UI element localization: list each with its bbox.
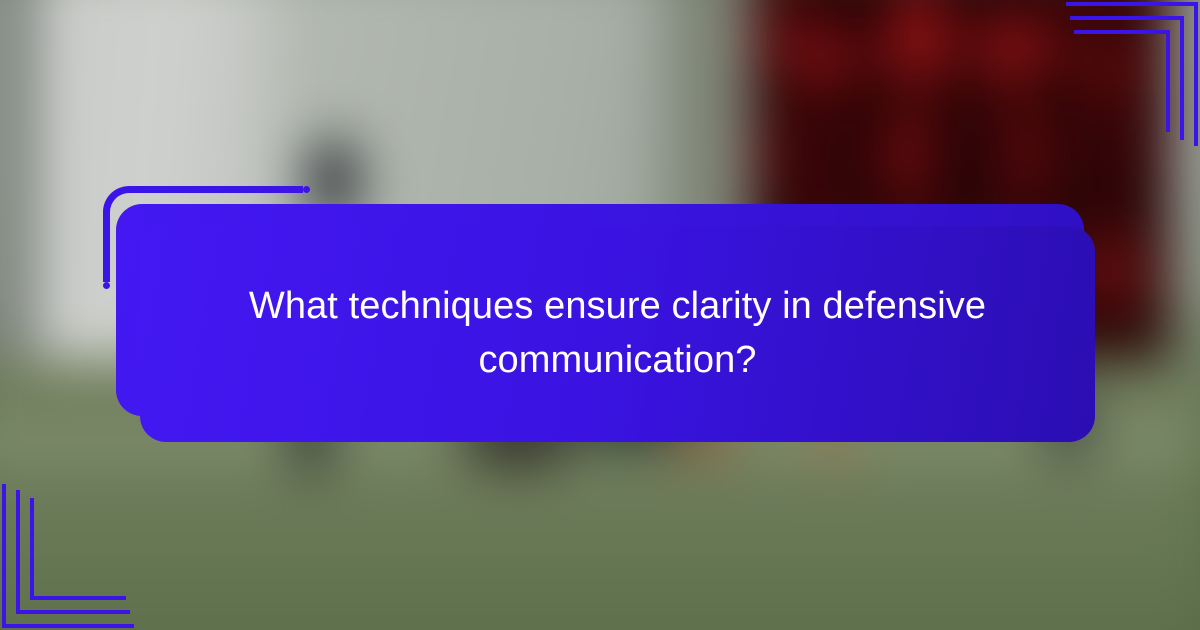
background-crate-cell [800, 0, 890, 40]
background-crate-cell [1075, 0, 1160, 56]
background-crate-cell [945, 0, 1055, 22]
background-crate-cell [920, 118, 1020, 204]
question-card: What techniques ensure clarity in defens… [140, 226, 1095, 442]
background-crate-cell [1050, 120, 1155, 210]
question-headline: What techniques ensure clarity in defens… [140, 280, 1095, 388]
background-crate-cell [790, 110, 885, 200]
social-card-canvas: What techniques ensure clarity in defens… [0, 0, 1200, 630]
